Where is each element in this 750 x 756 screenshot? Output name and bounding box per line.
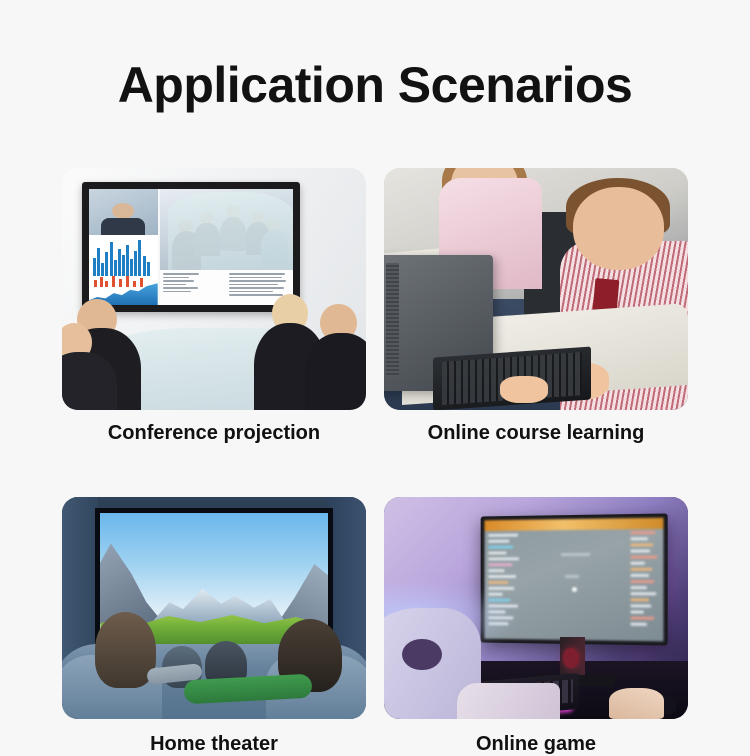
scenario-caption-home-theater: Home theater — [62, 733, 366, 756]
conference-display — [82, 182, 300, 312]
scenario-row-bottom: Home theater — [62, 497, 688, 756]
scenario-image-online-course-learning[interactable] — [384, 168, 688, 410]
screen-left-column — [89, 189, 158, 305]
scenario-image-home-theater[interactable] — [62, 497, 366, 719]
scenario-caption-online-course-learning: Online course learning — [384, 422, 688, 445]
gamer-arm — [457, 683, 560, 719]
monitor-stand-light — [563, 648, 578, 668]
page-title: Application Scenarios — [0, 55, 750, 115]
application-scenarios-page: Application Scenarios — [0, 0, 750, 750]
game-center-text-secondary — [565, 574, 579, 577]
scenario-cell-home-theater[interactable]: Home theater — [62, 497, 366, 756]
scenario-image-online-game[interactable] — [384, 497, 688, 719]
game-hud-topbar — [485, 517, 665, 530]
scenario-cell-online-course-learning[interactable]: Online course learning — [384, 168, 688, 445]
scenario-row-top: Conference projection — [62, 168, 688, 445]
screen-charts-panel — [89, 235, 158, 305]
scenario-cell-conference-projection[interactable]: Conference projection — [62, 168, 366, 445]
screen-right-column — [158, 189, 293, 305]
conference-display-screen — [89, 189, 293, 305]
game-center-text — [562, 552, 591, 555]
student-typing-hand — [500, 376, 549, 403]
game-crosshair — [572, 586, 577, 591]
gamer-mouse-hand — [609, 688, 664, 719]
remote-table — [168, 192, 293, 270]
screen-text-panel — [160, 270, 293, 305]
scenario-cell-online-game[interactable]: Online game — [384, 497, 688, 756]
scenario-caption-online-game: Online game — [384, 733, 688, 756]
scenario-grid: Conference projection — [62, 168, 688, 756]
remote-meeting-room-video-tile — [160, 189, 293, 270]
student-boy-head — [573, 187, 664, 269]
game-hud-right-panel — [631, 531, 661, 637]
scenario-image-conference-projection[interactable] — [62, 168, 366, 410]
scenario-caption-conference-projection: Conference projection — [62, 422, 366, 445]
attendee-body — [305, 333, 366, 410]
remote-participant-video-tile — [89, 189, 158, 235]
hoodie-patch — [402, 639, 442, 670]
